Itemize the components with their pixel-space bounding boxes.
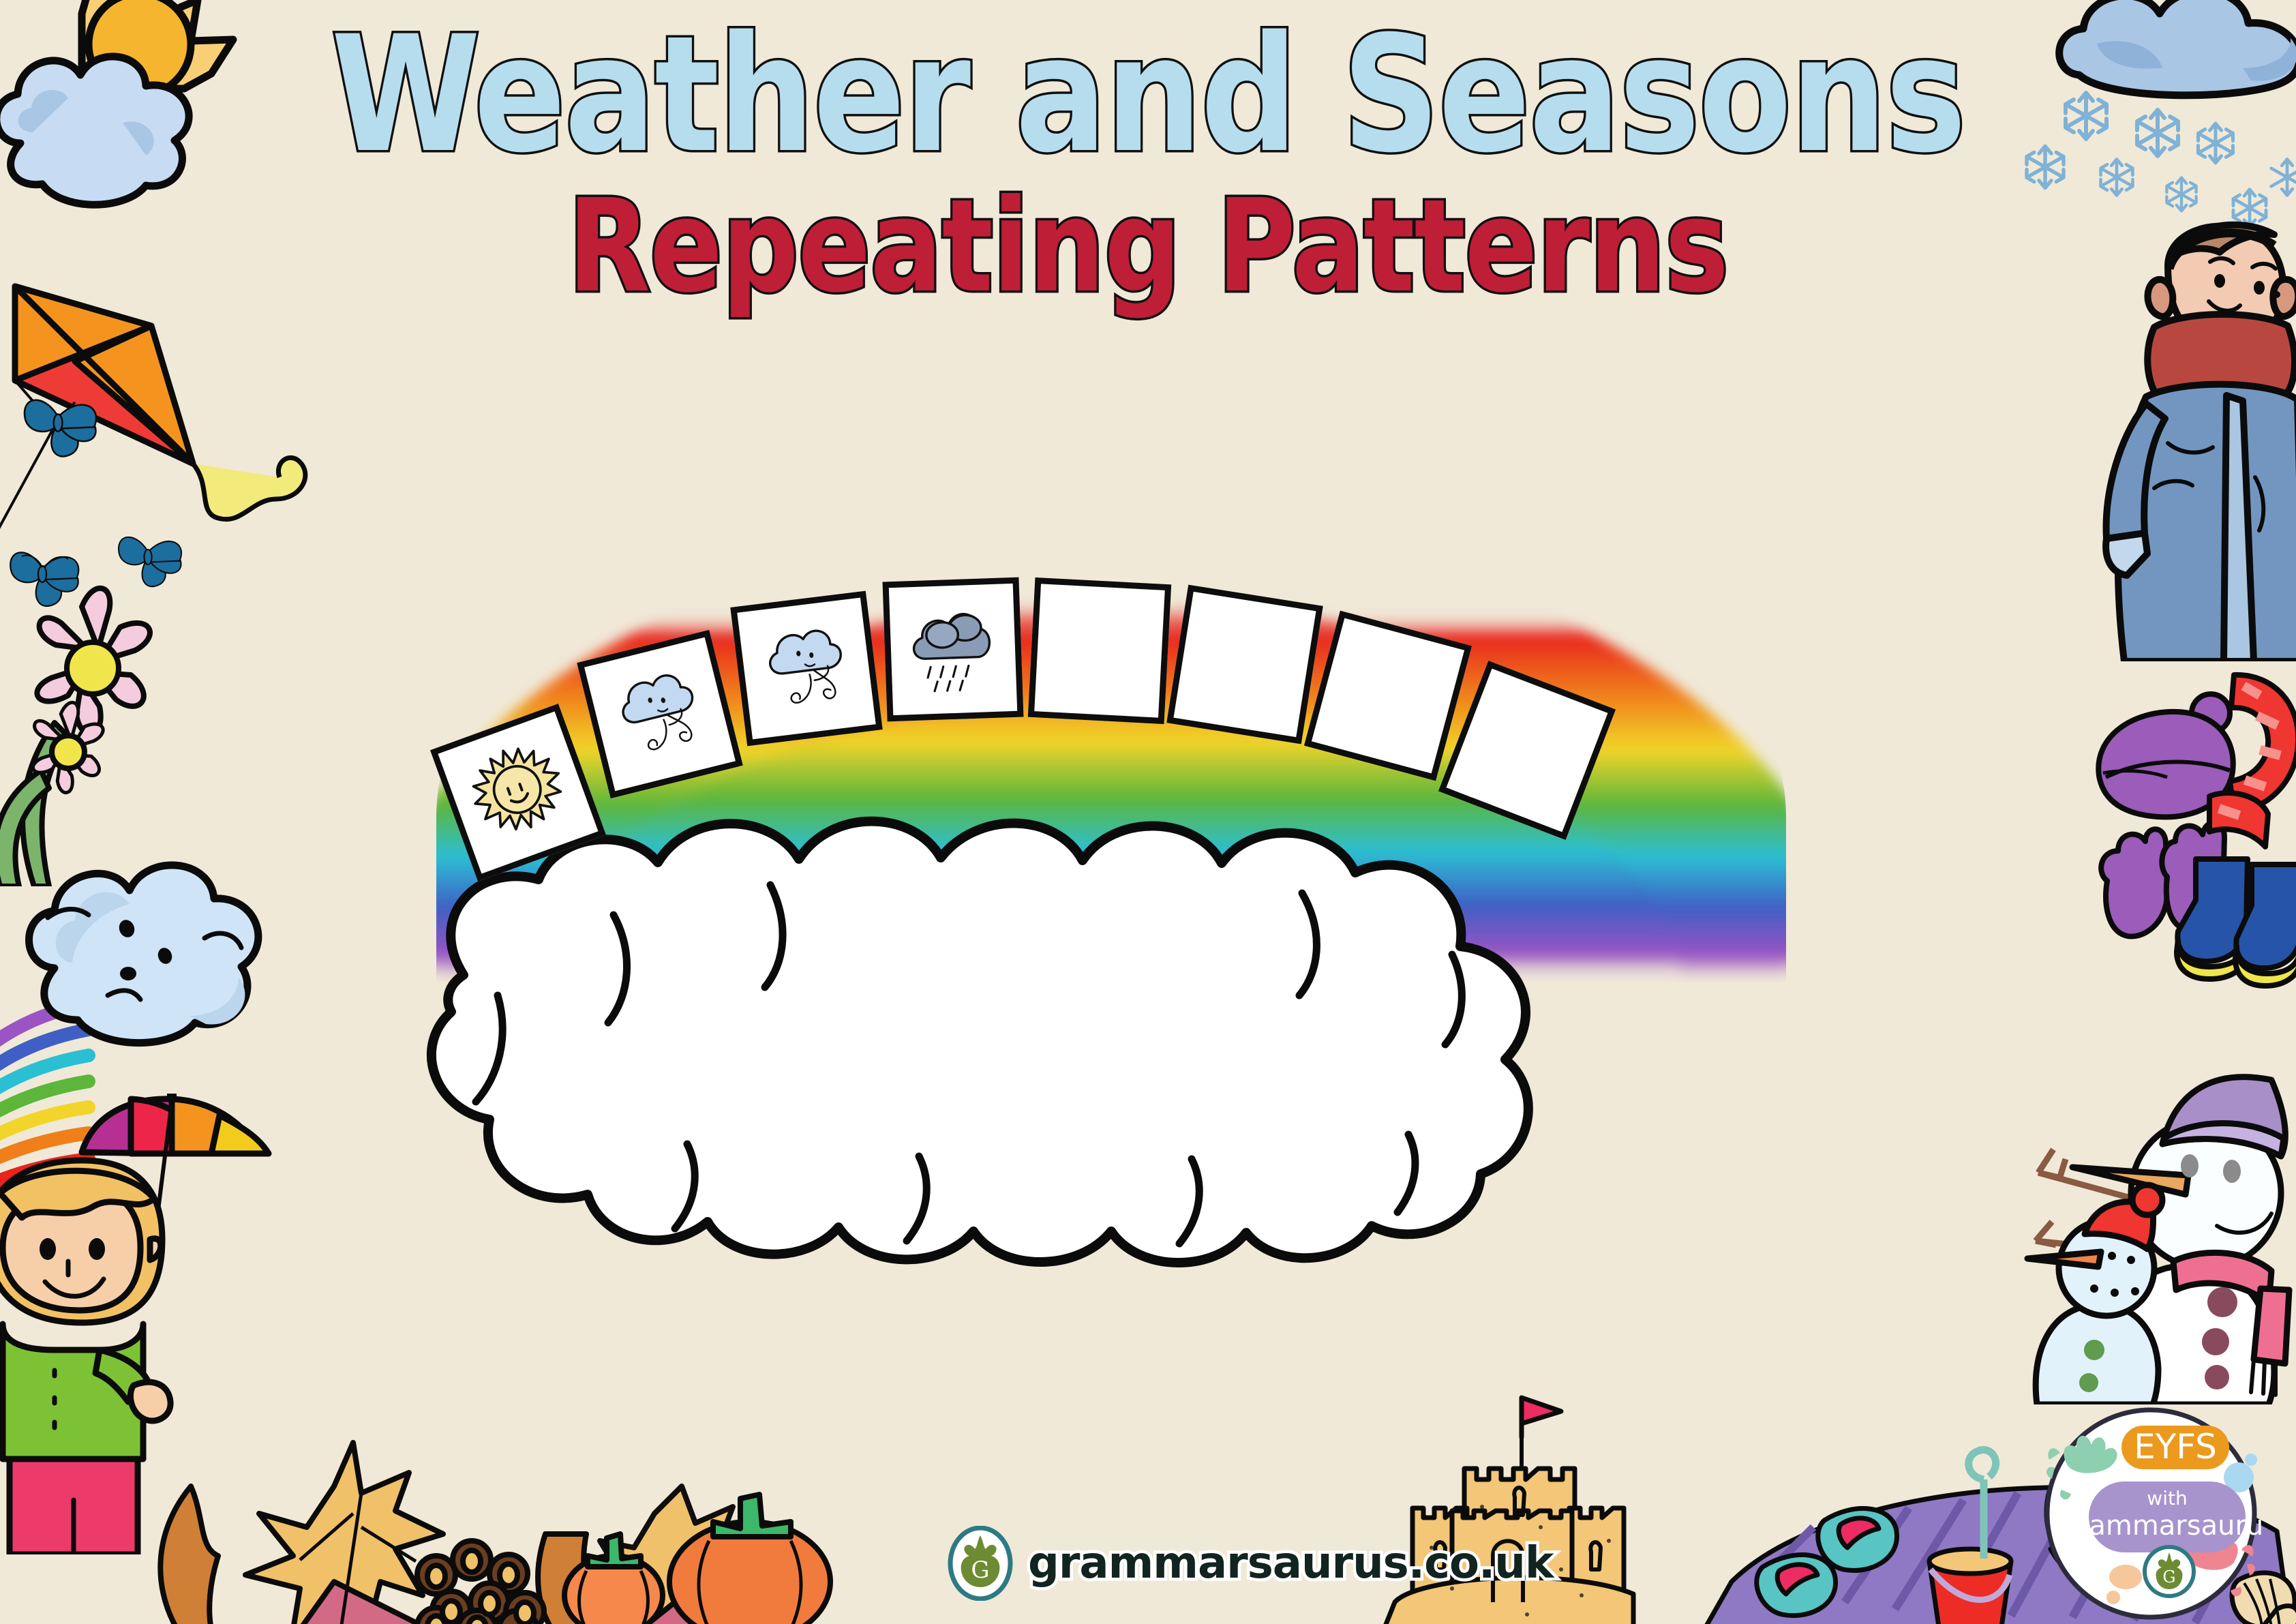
pumpkin-icon bbox=[564, 1494, 830, 1624]
footer-website-text: grammarsaurus.co.uk bbox=[1028, 1538, 1553, 1589]
snowman-icon bbox=[2018, 995, 2296, 1404]
eyfs-badge[interactable]: EYFS with Grammarsaurus G bbox=[2038, 1401, 2263, 1624]
windy-cloud-icon bbox=[748, 608, 866, 729]
sand-bucket-icon bbox=[1929, 1549, 2011, 1624]
badge-line2: with bbox=[2147, 1487, 2187, 1509]
butterfly-icon bbox=[14, 378, 164, 487]
badge-line1: EYFS bbox=[2134, 1427, 2217, 1467]
badge-logo-icon: G bbox=[2145, 1547, 2194, 1596]
sun-icon bbox=[450, 723, 586, 861]
pattern-card-4[interactable] bbox=[882, 577, 1023, 722]
pattern-card-3[interactable] bbox=[730, 591, 882, 747]
page-subtitle: Repeating Patterns bbox=[80, 181, 2216, 312]
pattern-card-7[interactable] bbox=[1304, 611, 1472, 781]
page-title: Weather and Seasons bbox=[69, 14, 2227, 177]
pattern-card-strip bbox=[436, 518, 1868, 900]
pattern-card-1[interactable] bbox=[430, 704, 606, 882]
svg-text:G: G bbox=[971, 1557, 989, 1584]
dot-orange-icon bbox=[2109, 1565, 2142, 1589]
grammarsaurus-logo-icon: G bbox=[948, 1526, 1013, 1601]
wellington-boots-icon bbox=[2177, 859, 2296, 986]
blue-cloud-face-icon bbox=[7, 811, 293, 1070]
pattern-card-5[interactable] bbox=[1028, 577, 1171, 724]
rain-cloud-icon bbox=[898, 593, 1008, 705]
footer-logo[interactable]: G grammarsaurus.co.uk bbox=[948, 1526, 1553, 1601]
badge-line3: Grammarsaurus bbox=[2057, 1510, 2263, 1542]
poster-canvas: Weather and Seasons Repeating Patterns bbox=[0, 0, 2296, 1624]
pattern-card-8[interactable] bbox=[1438, 661, 1616, 840]
pattern-card-2[interactable] bbox=[577, 630, 743, 798]
dot-blue-small-icon bbox=[2245, 1454, 2257, 1466]
windy-cloud-icon bbox=[596, 649, 725, 780]
dot-orange-small-icon bbox=[2106, 1591, 2120, 1604]
pattern-card-6[interactable] bbox=[1166, 585, 1323, 745]
winter-clothes-icons bbox=[2076, 668, 2296, 989]
svg-text:G: G bbox=[2162, 1567, 2175, 1587]
autumn-leaves-icon bbox=[136, 1377, 900, 1624]
poster-heading-block: Weather and Seasons Repeating Patterns bbox=[0, 14, 2296, 312]
